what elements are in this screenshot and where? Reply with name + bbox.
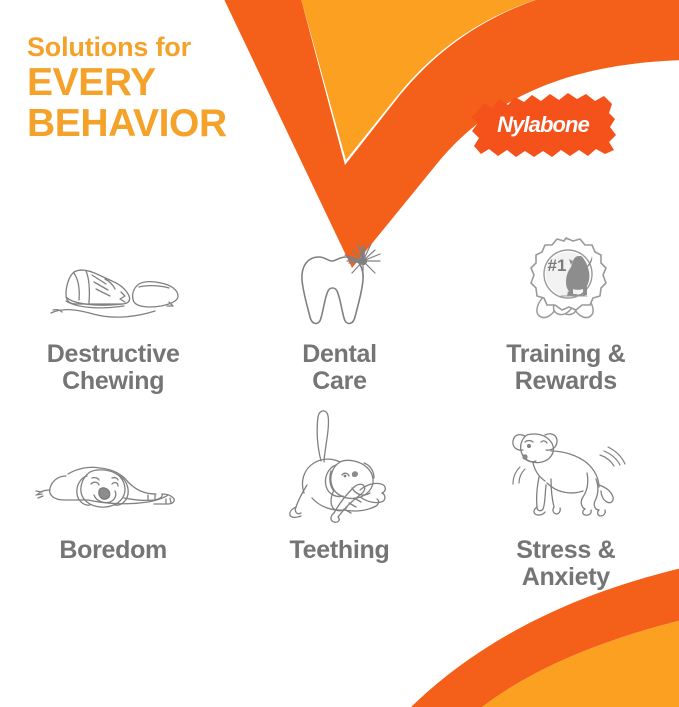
puppy-chewing-bone-icon	[274, 427, 404, 523]
bottom-swoosh-light-fill	[476, 618, 679, 707]
logo-wordmark: Nylabone	[468, 86, 620, 164]
headline-block: Solutions for EVERY BEHAVIOR	[27, 33, 327, 144]
grid-cell-stress-anxiety: Stress & Anxiety	[453, 427, 679, 612]
headline-line-1: Solutions for	[27, 33, 327, 61]
cell-label: Destructive Chewing	[47, 341, 180, 395]
cell-label: Dental Care	[302, 341, 377, 395]
grid-cell-dental-care: Dental Care	[226, 237, 452, 427]
behavior-grid: Destructive Chewing	[0, 237, 679, 612]
anxious-dog-standing-icon	[501, 427, 631, 523]
nylabone-logo: Nylabone	[468, 86, 620, 164]
headline-line-2: EVERY	[27, 63, 327, 103]
grid-cell-destructive-chewing: Destructive Chewing	[0, 237, 226, 427]
svg-text:#1: #1	[547, 256, 566, 275]
sparkling-tooth-icon	[279, 237, 399, 329]
grid-cell-training-rewards: #1 Training & Rewards	[453, 237, 679, 427]
cell-label: Boredom	[59, 537, 167, 564]
grid-cell-boredom: Boredom	[0, 427, 226, 612]
headline-line-3: BEHAVIOR	[27, 104, 327, 144]
cell-label: Training & Rewards	[506, 341, 625, 395]
cell-label: Stress & Anxiety	[516, 537, 615, 591]
cell-label: Teething	[290, 537, 390, 564]
infographic-canvas: Solutions for EVERY BEHAVIOR Nylabone	[0, 0, 679, 707]
bored-dog-lying-icon	[28, 427, 198, 523]
chewed-shoe-icon	[33, 237, 193, 329]
grid-cell-teething: Teething	[226, 427, 452, 612]
award-medal-icon: #1	[511, 237, 621, 329]
